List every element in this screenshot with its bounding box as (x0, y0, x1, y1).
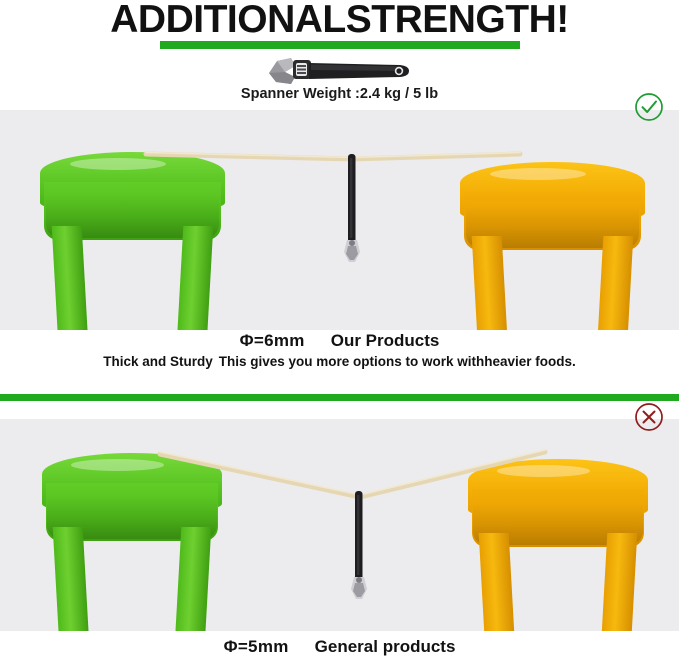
stool-leg (479, 533, 520, 631)
comparison-photo-good (0, 110, 679, 330)
x-circle-icon (633, 401, 665, 433)
stool-leg (51, 226, 92, 330)
product-label-bad: General products (315, 637, 456, 656)
section-divider (0, 394, 679, 401)
caption-good: Φ=6mmOur Products Thick and SturdyThis g… (0, 330, 679, 388)
stool-green-bottom (42, 453, 222, 631)
caption-bad: Φ=5mmGeneral products (0, 631, 679, 664)
caption-good-row2: Thick and SturdyThis gives you more opti… (0, 352, 679, 371)
page-title: ADDITIONALSTRENGTH! (0, 0, 679, 42)
stool-yellow-bottom (468, 459, 648, 631)
spanner-weight-caption: Spanner Weight :2.4 kg / 5 lb (0, 86, 679, 102)
stool-leg (597, 533, 638, 631)
stool-highlight (71, 459, 165, 471)
stool-highlight (497, 465, 591, 477)
product-label-good: Our Products (331, 331, 440, 350)
caption-good-sub-right: This gives you more options to work with… (219, 354, 576, 369)
diameter-good: Φ=6mm (240, 331, 305, 350)
caption-good-sub-left: Thick and Sturdy (103, 354, 213, 369)
caption-bad-row1: Φ=5mmGeneral products (0, 631, 679, 658)
stool-leg (173, 226, 214, 330)
check-circle-icon (633, 91, 665, 123)
title-underline (160, 41, 520, 49)
stool-yellow-top (460, 162, 645, 330)
stool-leg (53, 527, 94, 631)
stool-leg (171, 527, 212, 631)
wrench-icon (265, 55, 415, 87)
header: ADDITIONALSTRENGTH! Spanner Weight :2.4 … (0, 0, 679, 110)
stool-leg (471, 236, 512, 330)
stool-green-top (40, 152, 225, 330)
stool-leg (593, 236, 634, 330)
diameter-bad: Φ=5mm (224, 637, 289, 656)
stool-highlight (70, 158, 166, 170)
stool-highlight (490, 168, 586, 180)
comparison-photo-bad (0, 419, 679, 631)
caption-good-row1: Φ=6mmOur Products (0, 330, 679, 352)
